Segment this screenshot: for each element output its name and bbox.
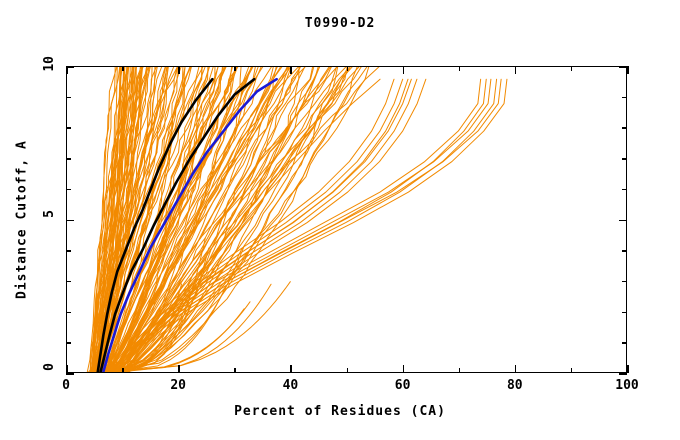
x-tick-20 — [178, 365, 180, 373]
y-tick-right-9 — [622, 97, 627, 99]
curves-canvas — [67, 67, 626, 372]
x-tick-top-10 — [122, 66, 124, 71]
x-tick-label-40: 40 — [283, 378, 299, 393]
y-tick-9 — [66, 97, 71, 99]
y-tick-label-0: 0 — [42, 363, 57, 371]
x-tick-top-80 — [515, 66, 517, 74]
y-tick-8 — [66, 127, 71, 129]
y-tick-3 — [66, 281, 71, 283]
x-tick-70 — [459, 368, 461, 373]
y-tick-label-5: 5 — [42, 210, 57, 218]
y-tick-label-10: 10 — [42, 56, 57, 72]
plot-area — [66, 66, 627, 373]
x-tick-top-90 — [571, 66, 573, 71]
y-axis-title: Distance Cutoff, A — [12, 66, 32, 373]
x-tick-0 — [66, 365, 68, 373]
y-tick-right-7 — [622, 158, 627, 160]
orange-curves-group — [87, 67, 507, 372]
x-tick-top-40 — [290, 66, 292, 74]
x-tick-top-30 — [234, 66, 236, 71]
x-tick-50 — [347, 368, 349, 373]
y-tick-1 — [66, 342, 71, 344]
x-tick-90 — [571, 368, 573, 373]
y-tick-0 — [66, 373, 74, 375]
x-tick-top-60 — [403, 66, 405, 74]
y-tick-right-6 — [622, 189, 627, 191]
y-tick-10 — [66, 66, 74, 68]
orange-orange-outlier-far-right-2-sib1 — [118, 79, 496, 372]
x-axis-tick-labels: 020406080100 — [0, 378, 680, 398]
y-tick-6 — [66, 189, 71, 191]
chart-page: T0990-D2 Distance Cutoff, A 0510 0204060… — [0, 0, 680, 440]
y-tick-right-10 — [619, 66, 627, 68]
x-tick-top-100 — [627, 66, 629, 74]
x-tick-top-70 — [459, 66, 461, 71]
x-tick-80 — [515, 365, 517, 373]
x-tick-10 — [122, 368, 124, 373]
y-tick-7 — [66, 158, 71, 160]
y-tick-right-5 — [619, 220, 627, 222]
y-tick-right-2 — [622, 312, 627, 314]
x-tick-label-80: 80 — [507, 378, 523, 393]
y-tick-right-8 — [622, 127, 627, 129]
page-title: T0990-D2 — [0, 16, 680, 31]
y-tick-right-4 — [622, 250, 627, 252]
x-tick-label-20: 20 — [170, 378, 186, 393]
y-tick-2 — [66, 312, 71, 314]
x-tick-100 — [627, 365, 629, 373]
x-tick-label-0: 0 — [62, 378, 70, 393]
x-axis-title: Percent of Residues (CA) — [0, 404, 680, 419]
x-tick-label-100: 100 — [615, 378, 638, 393]
x-tick-60 — [403, 365, 405, 373]
y-tick-4 — [66, 250, 71, 252]
y-tick-right-3 — [622, 281, 627, 283]
x-tick-40 — [290, 365, 292, 373]
y-tick-5 — [66, 220, 74, 222]
y-tick-right-0 — [619, 373, 627, 375]
y-tick-right-1 — [622, 342, 627, 344]
x-tick-top-20 — [178, 66, 180, 74]
x-tick-top-50 — [347, 66, 349, 71]
x-tick-label-60: 60 — [395, 378, 411, 393]
x-tick-30 — [234, 368, 236, 373]
